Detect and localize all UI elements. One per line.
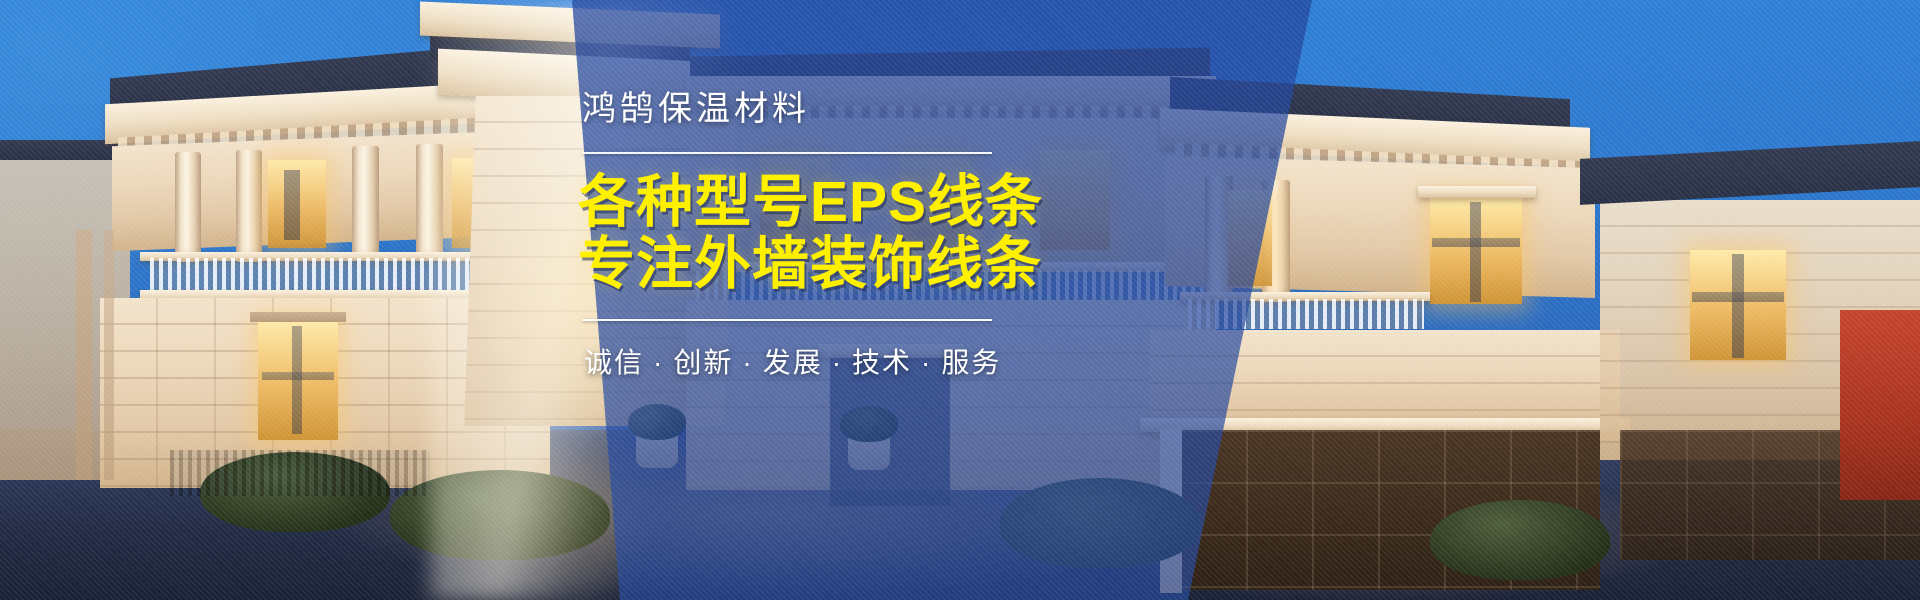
tagline-separator: ·: [912, 347, 941, 378]
tagline-item: 诚信: [584, 347, 644, 378]
lit-window: [1228, 190, 1272, 286]
headline-line-2: 专注外墙装饰线条: [578, 234, 1080, 296]
pilaster: [104, 230, 114, 480]
window-head: [1418, 186, 1536, 198]
shrub: [840, 406, 898, 442]
hedge: [1000, 478, 1200, 568]
tagline-separator: ·: [733, 347, 762, 378]
column: [352, 146, 379, 260]
red-structure: [1840, 310, 1920, 500]
tagline-item: 技术: [852, 347, 912, 378]
tagline-item: 服务: [941, 347, 1001, 378]
banner-text-block: 鸿鹄保温材料 各种型号EPS线条 专注外墙装饰线条 诚信·创新·发展·技术·服务: [560, 92, 1080, 381]
divider-bottom: [582, 319, 992, 321]
balustrade: [1188, 299, 1424, 329]
window-transom: [1432, 238, 1520, 247]
column: [236, 150, 262, 262]
headline: 各种型号EPS线条 专注外墙装饰线条: [560, 172, 1080, 295]
divider-top: [582, 152, 992, 154]
tagline-item: 创新: [673, 347, 733, 378]
tagline: 诚信·创新·发展·技术·服务: [560, 341, 1080, 381]
pilaster: [76, 230, 92, 480]
tagline-separator: ·: [823, 347, 852, 378]
tagline-separator: ·: [644, 347, 673, 378]
iron-railing: [170, 450, 430, 496]
window-mullion: [1732, 254, 1744, 358]
hero-banner: 鸿鹄保温材料 各种型号EPS线条 专注外墙装饰线条 诚信·创新·发展·技术·服务: [0, 0, 1920, 600]
brand-name: 鸿鹄保温材料: [560, 92, 1080, 126]
hedge: [1430, 500, 1610, 580]
tagline-item: 发展: [763, 347, 823, 378]
window-head: [250, 312, 346, 322]
window-mullion: [284, 170, 300, 240]
window-transom: [1692, 292, 1784, 302]
window-mullion: [1470, 202, 1481, 302]
headline-line-1: 各种型号EPS线条: [578, 172, 1080, 234]
window-mullion: [292, 326, 302, 434]
window-transom: [262, 372, 334, 380]
column: [175, 152, 201, 262]
